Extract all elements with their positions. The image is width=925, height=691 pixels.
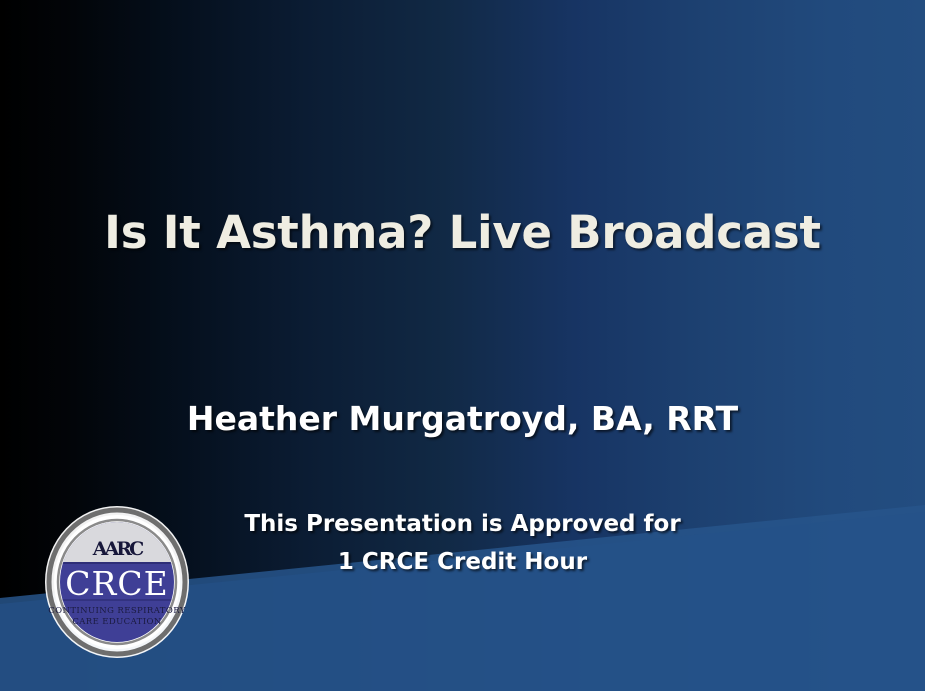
seal-tagline-line-1: CONTINUING RESPIRATORY (48, 606, 186, 616)
crce-seal-logo: AARC CRCE CONTINUING RESPIRATORY CARE ED… (42, 503, 192, 661)
presenter-name: Heather Murgatroyd, BA, RRT (0, 399, 925, 438)
page-title: Is It Asthma? Live Broadcast (0, 206, 925, 259)
slide-canvas: Is It Asthma? Live Broadcast Heather Mur… (0, 0, 925, 691)
crce-acronym: CRCE (65, 564, 168, 603)
aarc-monogram: AARC (92, 538, 144, 560)
seal-tagline-line-2: CARE EDUCATION (72, 617, 162, 627)
